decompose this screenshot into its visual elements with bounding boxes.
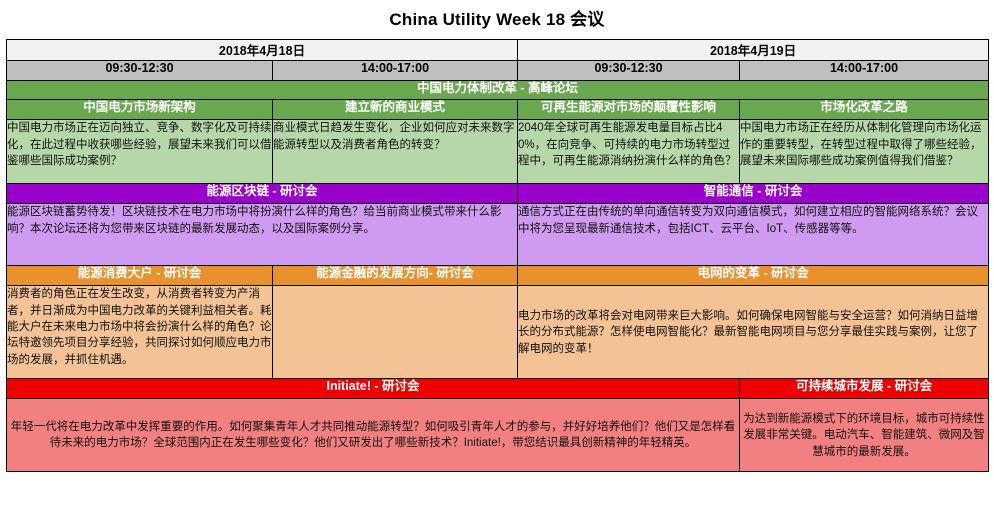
session-body-new-market-structure: 中国电力市场正在迈向独立、竞争、数字化及可持续化，在此过程中收获哪些经验，展望未… [7, 120, 273, 184]
time-header-slot-3: 09:30-12:30 [518, 61, 740, 81]
time-header-slot-1: 09:30-12:30 [7, 61, 273, 81]
orange-title-row: 能源消费大户 - 研讨会 能源金融的发展方向- 研讨会 电网的变革 - 研讨会 [7, 266, 989, 286]
session-body-new-business-models: 商业模式日趋发生变化，企业如何应对未来数字能源转型以及消费者角色的转变？ [273, 120, 518, 184]
session-title-grid-transformation[interactable]: 电网的变革 - 研讨会 [518, 266, 989, 286]
session-title-market-reform-road[interactable]: 市场化改革之路 [740, 100, 989, 120]
session-title-energy-blockchain[interactable]: 能源区块链 - 研讨会 [7, 184, 518, 204]
summit-body-row: 中国电力市场正在迈向独立、竞争、数字化及可持续化，在此过程中收获哪些经验，展望未… [7, 120, 989, 184]
red-body-row: 年轻一代将在电力改革中发挥重要的作用。如何聚集青年人才共同推动能源转型？如何吸引… [7, 399, 989, 472]
orange-body-row: 消费者的角色正在发生改变，从消费者转变为产消者，并日渐成为中国电力改革的关键利益… [7, 286, 989, 379]
agenda-table: 2018年4月18日 2018年4月19日 09:30-12:30 14:00-… [6, 39, 989, 472]
session-body-grid-transformation: 电力市场的改革将会对电网带来巨大影响。如何确保电网智能与安全运营？如何消纳日益增… [518, 286, 989, 379]
session-title-new-market-structure[interactable]: 中国电力市场新架构 [7, 100, 273, 120]
session-body-energy-finance [273, 286, 518, 379]
session-title-new-business-models[interactable]: 建立新的商业模式 [273, 100, 518, 120]
session-title-smart-communication[interactable]: 智能通信 - 研讨会 [518, 184, 989, 204]
session-body-initiate: 年轻一代将在电力改革中发挥重要的作用。如何聚集青年人才共同推动能源转型？如何吸引… [7, 399, 740, 472]
page-title: China Utility Week 18 会议 [0, 0, 994, 39]
session-body-large-energy-consumers: 消费者的角色正在发生改变，从消费者转变为产消者，并日渐成为中国电力改革的关键利益… [7, 286, 273, 379]
session-body-sustainable-cities: 为达到新能源模式下的环境目标，城市可持续性发展非常关键。电动汽车、智能建筑、微网… [740, 399, 989, 472]
time-header-slot-2: 14:00-17:00 [273, 61, 518, 81]
session-title-initiate[interactable]: Initiate! - 研讨会 [7, 379, 740, 399]
session-title-renewables-disruption[interactable]: 可再生能源对市场的颠覆性影响 [518, 100, 740, 120]
summit-band-row: 中国电力体制改革 - 高峰论坛 [7, 81, 989, 100]
red-title-row: Initiate! - 研讨会 可持续城市发展 - 研讨会 [7, 379, 989, 399]
summit-band-label: 中国电力体制改革 - 高峰论坛 [7, 81, 989, 100]
date-header-row: 2018年4月18日 2018年4月19日 [7, 40, 989, 61]
summit-title-row: 中国电力市场新架构 建立新的商业模式 可再生能源对市场的颠覆性影响 市场化改革之… [7, 100, 989, 120]
session-body-energy-blockchain: 能源区块链蓄势待发！区块链技术在电力市场中将扮演什么样的角色？给当前商业模式带来… [7, 204, 518, 266]
session-body-market-reform-road: 中国电力市场正在经历从体制化管理向市场化运作的重要转型，在转型过程中取得了哪些经… [740, 120, 989, 184]
purple-body-row: 能源区块链蓄势待发！区块链技术在电力市场中将扮演什么样的角色？给当前商业模式带来… [7, 204, 989, 266]
session-title-large-energy-consumers[interactable]: 能源消费大户 - 研讨会 [7, 266, 273, 286]
time-header-row: 09:30-12:30 14:00-17:00 09:30-12:30 14:0… [7, 61, 989, 81]
time-header-slot-4: 14:00-17:00 [740, 61, 989, 81]
session-title-energy-finance[interactable]: 能源金融的发展方向- 研讨会 [273, 266, 518, 286]
date-header-day2: 2018年4月19日 [518, 40, 989, 61]
session-body-renewables-disruption: 2040年全球可再生能源发电量目标占比40%，在向竞争、可持续的电力市场转型过程… [518, 120, 740, 184]
agenda-page: China Utility Week 18 会议 2018年4月18日 2018… [0, 0, 994, 515]
purple-title-row: 能源区块链 - 研讨会 智能通信 - 研讨会 [7, 184, 989, 204]
session-title-sustainable-cities[interactable]: 可持续城市发展 - 研讨会 [740, 379, 989, 399]
date-header-day1: 2018年4月18日 [7, 40, 518, 61]
session-body-smart-communication: 通信方式正在由传统的单向通信转变为双向通信模式，如何建立相应的智能网络系统？会议… [518, 204, 989, 266]
